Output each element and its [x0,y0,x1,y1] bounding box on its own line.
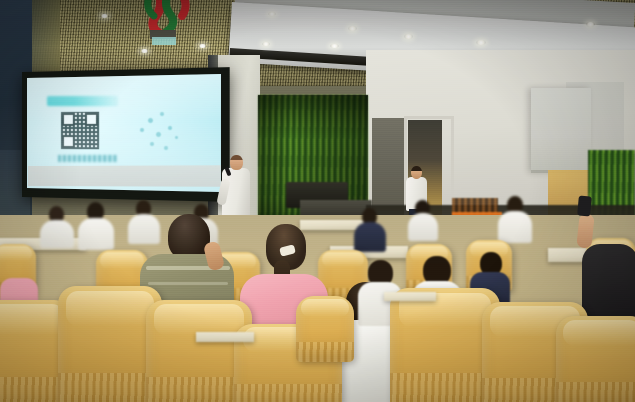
slide-graphic-dot [148,118,153,123]
shoulders [408,213,438,241]
shoulders [78,218,114,250]
slide-graphic-dot [150,142,154,146]
audience-member [498,196,532,242]
standing-attendee-head [411,166,422,179]
banquet-chair [296,296,354,362]
slide-graphic-dot [175,136,178,139]
slide-title-text [47,96,118,106]
qr-code-icon [61,112,99,150]
shoulders [354,222,386,252]
table-row [384,292,436,301]
audience-member [40,206,74,246]
shirt-stripe [148,282,228,285]
table-row [196,332,254,342]
raised-arm [576,213,594,248]
audience-member [78,202,114,248]
banquet-chair-foreground [556,316,635,402]
slide-graphic-dot [164,146,168,150]
slide-graphic-dot [168,126,172,130]
slide-graphic-dot [160,112,164,116]
presenter [219,155,253,223]
shoulders [40,220,74,248]
shoulders [498,211,532,243]
audience-member [354,208,386,252]
audience-member [408,200,438,240]
slide-caption-text [58,155,117,162]
presenter-head [230,155,243,170]
photo-scene [0,0,635,402]
screen-lower-band [28,165,221,186]
roller-blind [531,88,591,173]
smartphone-icon [577,195,592,216]
slide-graphic-dot [156,132,161,137]
slide-graphic-dot [140,128,144,132]
